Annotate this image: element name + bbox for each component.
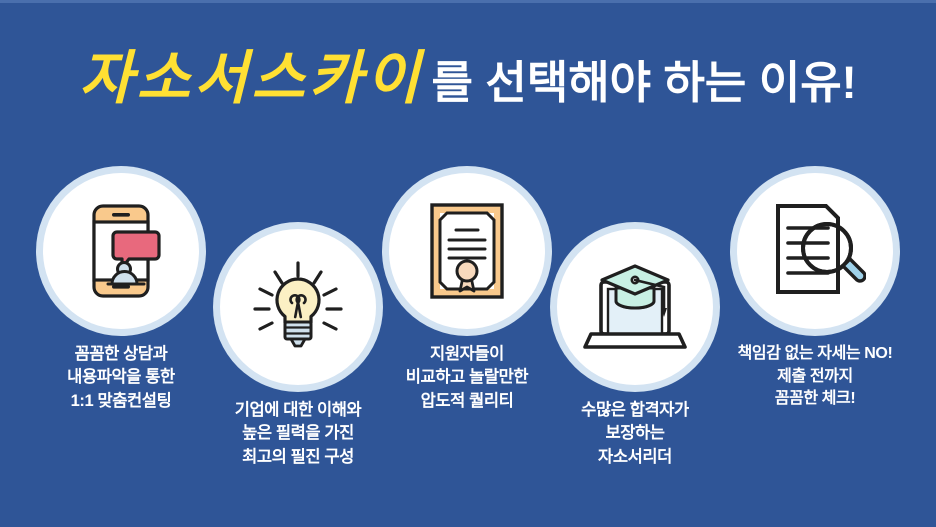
certificate-icon bbox=[389, 173, 545, 329]
title-brand-name: 자소서스카이 bbox=[79, 46, 423, 111]
caption-line: 책임감 없는 자세는 NO! bbox=[715, 343, 915, 366]
feature-icon-circle bbox=[389, 173, 545, 329]
caption-line: 최고의 필진 구성 bbox=[198, 446, 398, 469]
lightbulb-icon bbox=[220, 229, 376, 385]
caption-line: 1:1 맞춤컨설팅 bbox=[21, 390, 221, 413]
caption-line: 높은 필력을 가진 bbox=[198, 422, 398, 445]
feature-caption: 수많은 합격자가 보장하는 자소서리더 bbox=[535, 399, 735, 469]
title-suffix: 를 선택해야 하는 이유! bbox=[432, 57, 857, 108]
document-magnifier-icon bbox=[737, 173, 893, 329]
caption-line: 내용파악을 통한 bbox=[21, 366, 221, 389]
feature-item-leader[interactable]: 수많은 합격자가 보장하는 자소서리더 bbox=[535, 229, 735, 469]
caption-line: 제출 전까지 bbox=[715, 366, 915, 389]
page-title: 자소서스카이를 선택해야 하는 이유! bbox=[0, 50, 936, 108]
caption-line: 꼼꼼한 상담과 bbox=[21, 343, 221, 366]
feature-item-check[interactable]: 책임감 없는 자세는 NO! 제출 전까지 꼼꼼한 체크! bbox=[715, 173, 915, 411]
feature-icon-circle bbox=[557, 229, 713, 385]
smartphone-chat-icon bbox=[43, 173, 199, 329]
feature-caption: 꼼꼼한 상담과 내용파악을 통한 1:1 맞춤컨설팅 bbox=[21, 343, 221, 413]
caption-line: 보장하는 bbox=[535, 422, 735, 445]
feature-caption: 책임감 없는 자세는 NO! 제출 전까지 꼼꼼한 체크! bbox=[715, 343, 915, 411]
laptop-graduation-cap-icon bbox=[557, 229, 713, 385]
caption-line: 수많은 합격자가 bbox=[535, 399, 735, 422]
promo-poster: 자소서스카이를 선택해야 하는 이유! 꼼꼼한 상담과 내용파악을 통한 bbox=[0, 0, 936, 527]
feature-item-consulting[interactable]: 꼼꼼한 상담과 내용파악을 통한 1:1 맞춤컨설팅 bbox=[21, 173, 221, 413]
feature-icon-circle bbox=[737, 173, 893, 329]
caption-line: 꼼꼼한 체크! bbox=[715, 388, 915, 411]
feature-icon-circle bbox=[43, 173, 199, 329]
caption-line: 자소서리더 bbox=[535, 446, 735, 469]
feature-icon-circle bbox=[220, 229, 376, 385]
